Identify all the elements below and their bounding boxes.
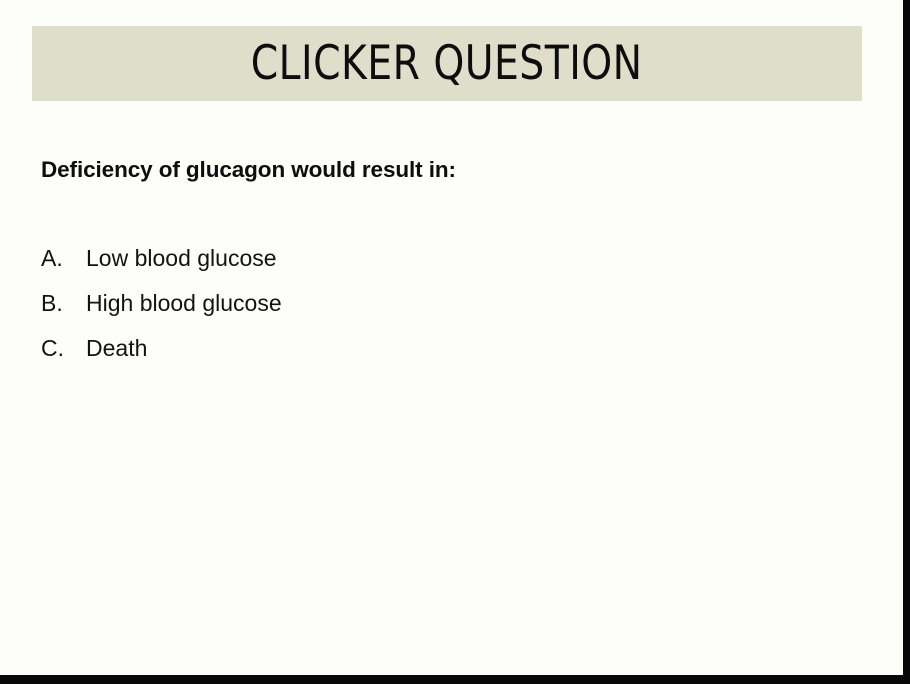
choice-label: Death xyxy=(86,335,147,362)
choice-marker: C. xyxy=(41,335,86,362)
page-title: CLICKER QUESTION xyxy=(251,40,643,87)
question-prompt: Deficiency of glucagon would result in: xyxy=(41,157,456,183)
answer-choice-a[interactable]: A. Low blood glucose xyxy=(41,245,641,290)
choice-marker: B. xyxy=(41,290,86,317)
slide-right-border xyxy=(903,0,910,684)
slide-bottom-border xyxy=(0,675,910,684)
slide: CLICKER QUESTION Deficiency of glucagon … xyxy=(0,0,910,684)
answer-choice-c[interactable]: C. Death xyxy=(41,335,641,380)
answer-choice-b[interactable]: B. High blood glucose xyxy=(41,290,641,335)
choice-label: Low blood glucose xyxy=(86,245,277,272)
title-banner: CLICKER QUESTION xyxy=(32,26,862,101)
choice-marker: A. xyxy=(41,245,86,272)
choice-label: High blood glucose xyxy=(86,290,282,317)
answer-choice-list: A. Low blood glucose B. High blood gluco… xyxy=(41,245,641,380)
